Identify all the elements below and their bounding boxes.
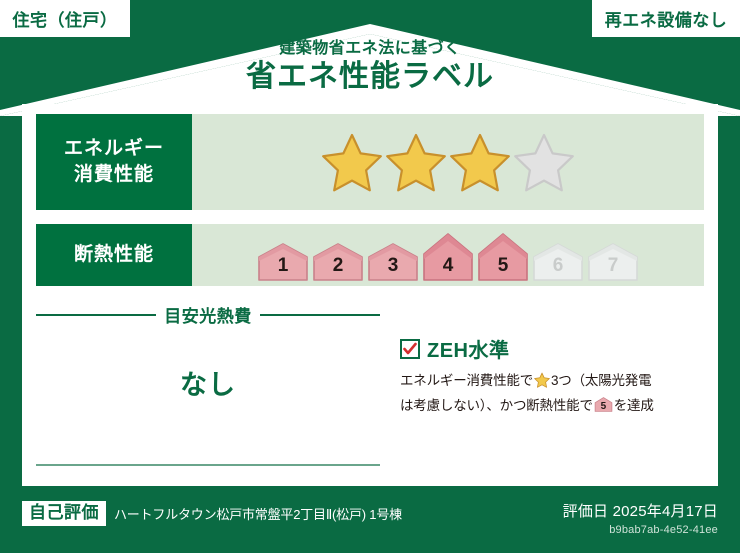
energy-label-line2: 消費性能 [74, 162, 154, 188]
house-icon-grade-6: 6 [532, 242, 584, 282]
footer-right-group: 評価日 2025年4月17日 b9bab7ab-4e52-41ee [563, 498, 718, 536]
insulation-performance-value: 1 2 3 [192, 224, 704, 286]
house-icon-grade-3: 3 [367, 242, 419, 282]
energy-performance-label: 住宅（住戸） 再エネ設備なし 建築物省エネ法に基づく 省エネ性能ラベル エネルギ… [0, 0, 740, 553]
insulation-grade-scale: 1 2 3 [257, 226, 639, 284]
energy-performance-value [192, 114, 704, 210]
zeh-description: エネルギー消費性能で 3つ（太陽光発電 は考慮しない）、かつ断熱性能で 5 を達… [400, 370, 704, 417]
check-icon [400, 339, 420, 359]
house-icon-inline-number: 5 [594, 402, 613, 412]
label-footer: 自己評価 ハートフルタウン松戸市常盤平2丁目Ⅱ(松戸) 1号棟 評価日 2025… [0, 486, 740, 553]
evaluation-id: b9bab7ab-4e52-41ee [563, 524, 718, 536]
renewable-energy-tag-label: 再エネ設備なし [605, 6, 728, 31]
zeh-heading: ZEH水準 [400, 334, 704, 363]
evaluation-date: 評価日 2025年4月17日 [563, 500, 718, 521]
building-type-tag-label: 住宅（住戸） [13, 6, 118, 31]
self-evaluation-badge: 自己評価 [22, 501, 106, 526]
zeh-desc-part3: を達成 [614, 398, 654, 413]
heading-rule-left [36, 314, 156, 316]
zeh-desc-part2: は考慮しない）、かつ断熱性能で [400, 398, 593, 413]
roof-graphic [0, 24, 740, 116]
zeh-desc-star-count: 3つ（太陽光発電 [551, 373, 651, 388]
house-icon-grade-4: 4 [422, 232, 474, 282]
label-card: エネルギー 消費性能 [22, 104, 718, 486]
star-icon [385, 132, 447, 192]
utility-cost-heading: 目安光熱費 [36, 302, 380, 327]
house-icon-grade-7: 7 [587, 242, 639, 282]
star-icon-empty [513, 132, 575, 192]
house-grade-number: 4 [422, 256, 474, 275]
house-grade-number: 5 [477, 256, 529, 275]
house-grade-number: 7 [587, 256, 639, 275]
house-icon-grade-1: 1 [257, 242, 309, 282]
star-icon-inline [534, 372, 550, 395]
insulation-performance-label-box: 断熱性能 [36, 224, 192, 286]
star-icon [321, 132, 383, 192]
insulation-performance-row: 断熱性能 1 [36, 210, 704, 286]
heading-rule-right [260, 314, 380, 316]
house-grade-number: 6 [532, 256, 584, 275]
energy-label-line1: エネルギー [64, 136, 164, 162]
utility-cost-bottom-rule [36, 464, 380, 466]
property-name: ハートフルタウン松戸市常盤平2丁目Ⅱ(松戸) 1号棟 [114, 504, 402, 523]
renewable-energy-tag: 再エネ設備なし [592, 0, 740, 37]
utility-cost-heading-label: 目安光熱費 [164, 302, 252, 327]
house-grade-number: 2 [312, 256, 364, 275]
zeh-section: ZEH水準 エネルギー消費性能で 3つ（太陽光発電 は考慮しない）、かつ断熱性能… [388, 302, 704, 488]
utility-cost-value: なし [36, 327, 380, 464]
zeh-desc-part1: エネルギー消費性能で [400, 373, 533, 388]
house-grade-number: 1 [257, 256, 309, 275]
utility-cost-section: 目安光熱費 なし [36, 302, 388, 488]
lower-section: 目安光熱費 なし ZEH水準 エネルギー消費性能で [36, 302, 704, 488]
zeh-title: ZEH水準 [427, 334, 510, 363]
house-icon-grade-2: 2 [312, 242, 364, 282]
insulation-label: 断熱性能 [74, 242, 154, 268]
house-icon-grade-5: 5 [477, 232, 529, 282]
energy-performance-row: エネルギー 消費性能 [36, 104, 704, 210]
energy-performance-label-box: エネルギー 消費性能 [36, 114, 192, 210]
building-type-tag: 住宅（住戸） [0, 0, 130, 37]
house-grade-number: 3 [367, 256, 419, 275]
star-rating [321, 132, 575, 192]
star-icon [449, 132, 511, 192]
footer-left-group: 自己評価 ハートフルタウン松戸市常盤平2丁目Ⅱ(松戸) 1号棟 [22, 498, 402, 526]
house-icon-inline: 5 [594, 396, 613, 413]
